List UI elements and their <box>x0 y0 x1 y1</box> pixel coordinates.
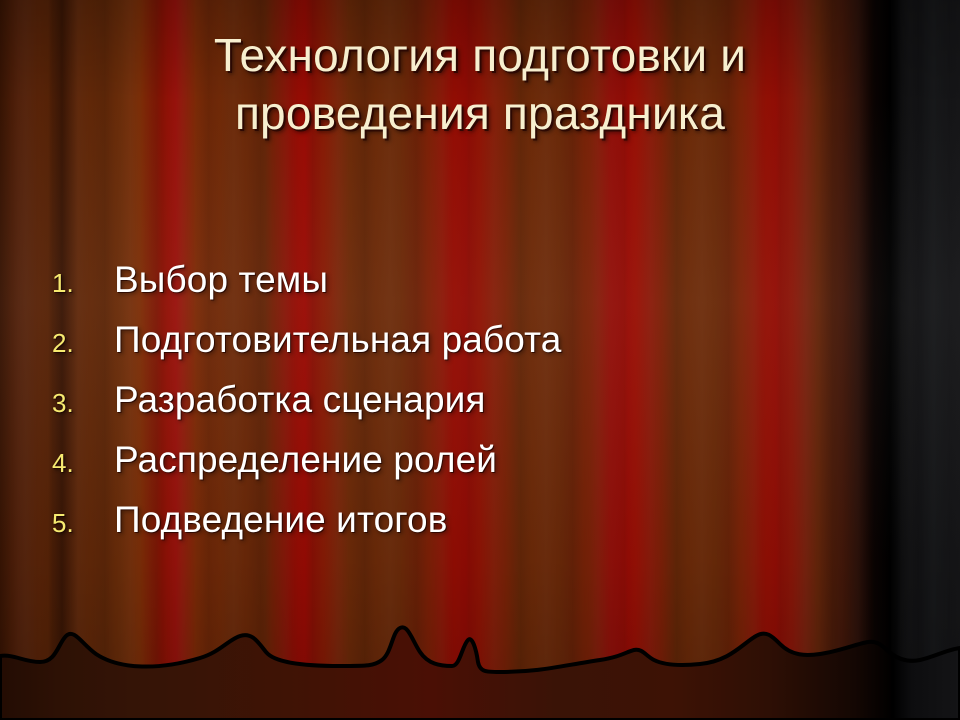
list-item-text: Разработка сценария <box>114 378 486 422</box>
list-item: 4. Распределение ролей <box>52 438 872 498</box>
slide-title: Технология подготовки и проведения празд… <box>60 26 900 142</box>
list-item: 5. Подведение итогов <box>52 498 872 558</box>
list-item-number: 1. <box>52 263 114 303</box>
list-item: 3. Разработка сценария <box>52 378 872 438</box>
list-item: 1. Выбор темы <box>52 258 872 318</box>
list-item-number: 4. <box>52 443 114 483</box>
list-item: 2. Подготовительная работа <box>52 318 872 378</box>
list-item-number: 5. <box>52 503 114 543</box>
list-item-text: Подведение итогов <box>114 498 447 542</box>
numbered-list: 1. Выбор темы 2. Подготовительная работа… <box>52 258 872 558</box>
list-item-text: Распределение ролей <box>114 438 497 482</box>
list-item-text: Выбор темы <box>114 258 328 302</box>
list-item-number: 2. <box>52 323 114 363</box>
list-item-text: Подготовительная работа <box>114 318 561 362</box>
list-item-number: 3. <box>52 383 114 423</box>
presentation-slide: Технология подготовки и проведения празд… <box>0 0 960 720</box>
